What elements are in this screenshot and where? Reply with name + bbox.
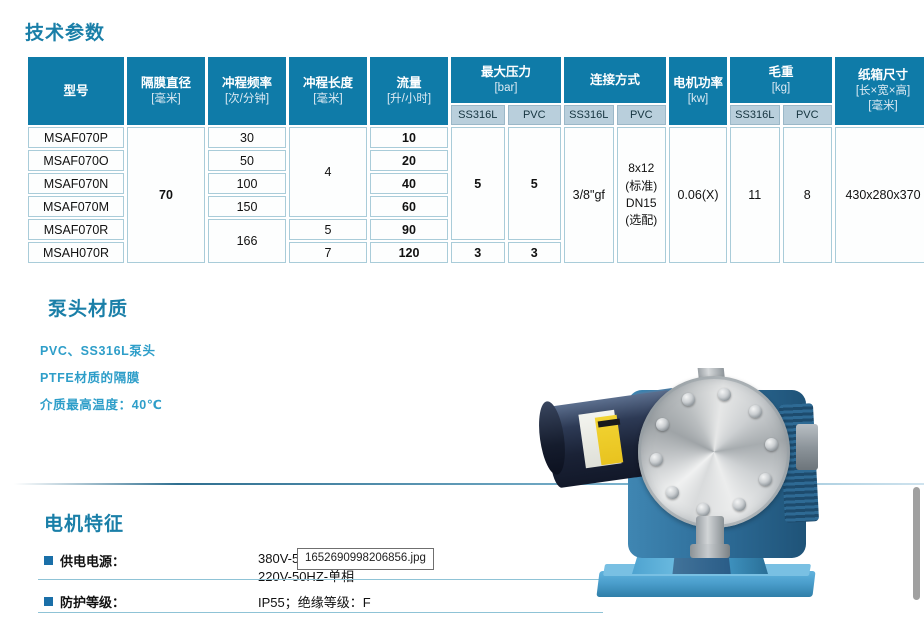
- subheader-weight-ss316l: SS316L: [730, 105, 780, 125]
- pump-head-bolt: [765, 438, 778, 451]
- table-header-row: 型号 隔膜直径 [毫米] 冲程频率 [次/分钟] 冲程长度 [毫米] 流量 [升…: [28, 57, 924, 103]
- cell-stroke-frequency: 30: [208, 127, 286, 148]
- cell-model: MSAF070O: [28, 150, 124, 171]
- motor-feature-divider-1: [38, 579, 603, 580]
- cell-stroke-frequency: 50: [208, 150, 286, 171]
- technical-parameters-table: 型号 隔膜直径 [毫米] 冲程频率 [次/分钟] 冲程长度 [毫米] 流量 [升…: [25, 55, 924, 265]
- cell-stroke-frequency: 150: [208, 196, 286, 217]
- motor-feature-label-protection-grade: 防护等级：: [44, 592, 125, 611]
- col-header-stroke-length: 冲程长度 [毫米]: [289, 57, 367, 125]
- col-header-motor-power: 电机功率 [kw]: [669, 57, 727, 125]
- cell-weight-pvc: 8: [783, 127, 833, 263]
- pump-head-material-line-1: PVC、SS316L泵头: [40, 340, 156, 359]
- col-header-diaphragm-diameter: 隔膜直径 [毫米]: [127, 57, 205, 125]
- pump-head-material-line-2: PTFE材质的隔膜: [40, 367, 140, 386]
- subheader-pressure-ss316l: SS316L: [451, 105, 505, 125]
- subheader-connection-ss316l: SS316L: [564, 105, 614, 125]
- pump-bottom-connector-base: [690, 544, 730, 558]
- pump-right-block: [796, 424, 818, 470]
- cell-stroke-length: 4: [289, 127, 367, 217]
- cell-stroke-length: 7: [289, 242, 367, 263]
- cell-flow-rate: 20: [370, 150, 448, 171]
- cell-pressure-ss316l-last: 3: [451, 242, 505, 263]
- col-header-max-pressure: 最大压力 [bar]: [451, 57, 561, 103]
- pump-head-bolt: [759, 473, 772, 486]
- section-title-motor-features: 电机特征: [44, 509, 124, 536]
- bullet-square-icon: [44, 597, 53, 606]
- cell-model: MSAH070R: [28, 242, 124, 263]
- pump-head-bolt: [666, 486, 679, 499]
- cell-model: MSAF070P: [28, 127, 124, 148]
- page-root: 技术参数 型号 隔膜直径 [毫米] 冲程频率 [次/分钟] 冲程长度 [毫米]: [0, 0, 924, 643]
- bullet-square-icon: [44, 556, 53, 565]
- subheader-connection-pvc: PVC: [617, 105, 667, 125]
- cell-connection-ss316l: 3/8"gf: [564, 127, 614, 263]
- col-header-connection: 连接方式: [564, 57, 666, 103]
- image-filename-tooltip: 1652690998206856.jpg: [297, 548, 434, 570]
- section-title-pump-head-material: 泵头材质: [48, 294, 128, 321]
- cell-motor-power: 0.06(X): [669, 127, 727, 263]
- cell-weight-ss316l: 11: [730, 127, 780, 263]
- cell-diaphragm-diameter: 70: [127, 127, 205, 263]
- cell-flow-rate: 60: [370, 196, 448, 217]
- col-header-flow-rate: 流量 [升/小时]: [370, 57, 448, 125]
- page-title-technical-parameters: 技术参数: [25, 18, 105, 45]
- col-header-stroke-frequency: 冲程频率 [次/分钟]: [208, 57, 286, 125]
- table-head: 型号 隔膜直径 [毫米] 冲程频率 [次/分钟] 冲程长度 [毫米] 流量 [升…: [28, 57, 924, 125]
- pump-head-bolt: [733, 498, 746, 511]
- col-header-gross-weight: 毛重 [kg]: [730, 57, 832, 103]
- cell-model: MSAF070N: [28, 173, 124, 194]
- cell-model: MSAF070R: [28, 219, 124, 240]
- pump-head-material-line-3: 介质最高温度：40℃: [40, 394, 163, 413]
- cell-stroke-length: 5: [289, 219, 367, 240]
- cell-flow-rate: 90: [370, 219, 448, 240]
- subheader-pressure-pvc: PVC: [508, 105, 562, 125]
- subheader-weight-pvc: PVC: [783, 105, 833, 125]
- scrollbar-thumb[interactable]: [913, 487, 920, 600]
- cell-pressure-pvc-last: 3: [508, 242, 562, 263]
- cell-pressure-ss316l: 5: [451, 127, 505, 240]
- cell-pressure-pvc: 5: [508, 127, 562, 240]
- pump-head-rim: [638, 376, 790, 528]
- cell-flow-rate: 10: [370, 127, 448, 148]
- cell-flow-rate: 120: [370, 242, 448, 263]
- pump-product-image: [520, 368, 920, 643]
- motor-feature-label-power-supply: 供电电源：: [44, 551, 125, 570]
- cell-stroke-frequency: 166: [208, 219, 286, 263]
- col-header-model: 型号: [28, 57, 124, 125]
- cell-stroke-frequency: 100: [208, 173, 286, 194]
- cell-model: MSAF070M: [28, 196, 124, 217]
- cell-flow-rate: 40: [370, 173, 448, 194]
- cell-connection-pvc: 8x12 (标准) DN15 (选配): [617, 127, 667, 263]
- table-body: MSAF070P 70 30 4 10 5 5 3/8"gf 8x12 (标准)…: [28, 127, 924, 263]
- table-row: MSAF070P 70 30 4 10 5 5 3/8"gf 8x12 (标准)…: [28, 127, 924, 148]
- pump-head-bolt: [697, 503, 710, 516]
- motor-feature-divider-2: [38, 612, 603, 613]
- motor-feature-value-protection-grade: IP55；绝缘等级：F: [258, 592, 371, 611]
